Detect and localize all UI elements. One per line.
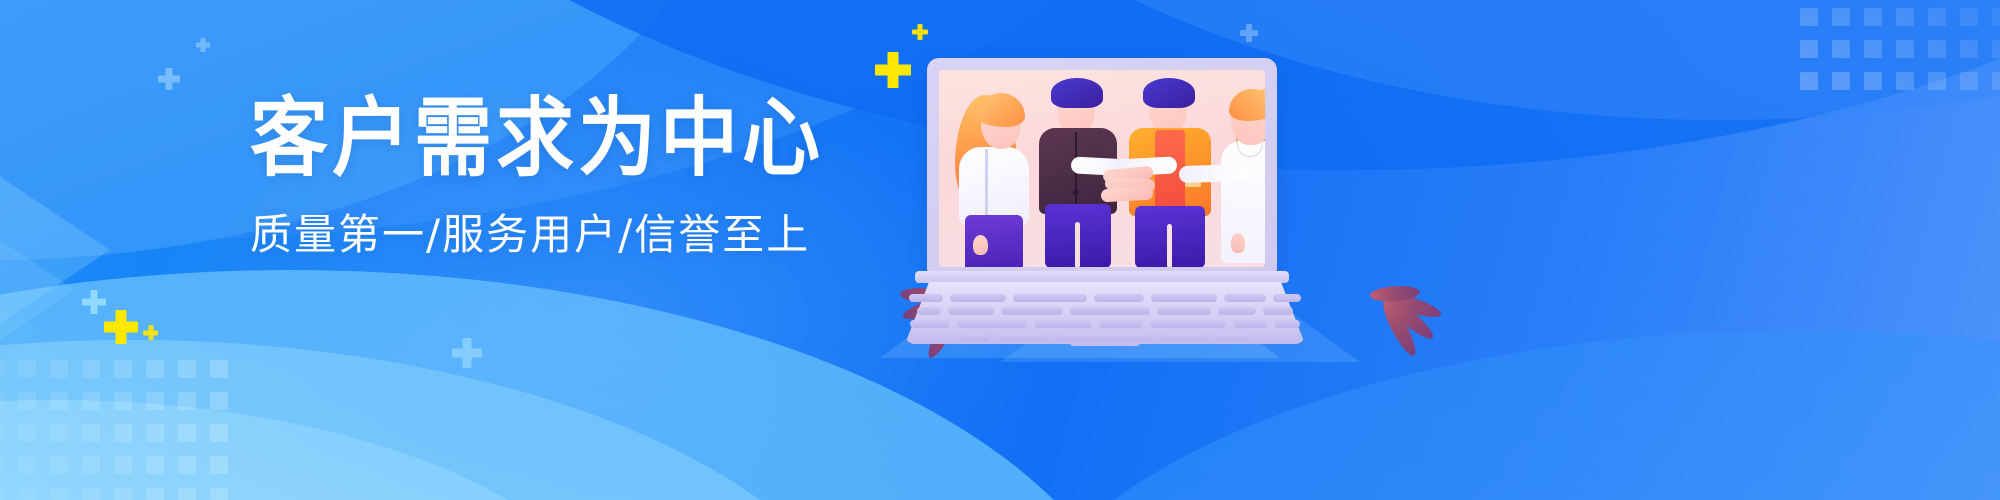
keyboard-key: [909, 294, 943, 302]
keyboard-key: [960, 333, 990, 341]
torso: [959, 147, 1029, 225]
keyboard-key: [917, 307, 941, 315]
keyboard-key: [1001, 307, 1063, 315]
keyboard-row: [910, 320, 1300, 328]
hair-front: [977, 93, 1025, 127]
promo-banner: 客户需求为中心 质量第一/服务用户/信誉至上: [0, 0, 2000, 500]
plus-sparkle-cyan-icon-4: [452, 338, 482, 368]
keyboard-key: [910, 320, 950, 328]
keyboard-key: [1214, 333, 1250, 341]
keyboard-row: [909, 294, 1301, 302]
keyboard-key: [1218, 307, 1256, 315]
keyboard-key: [1094, 294, 1144, 302]
keyboard-key: [1157, 307, 1211, 315]
keyboard-key: [1224, 294, 1266, 302]
plus-sparkle-yellow-icon-2: [912, 24, 928, 40]
hand: [973, 235, 988, 255]
keyboard-key: [950, 294, 1006, 302]
keyboard-key: [1159, 333, 1207, 341]
plus-sparkle-yellow-icon-4: [143, 325, 158, 340]
plus-sparkle-cyan-icon-3: [82, 290, 106, 314]
keyboard-key: [957, 320, 1027, 328]
plus-sparkle-cyan-icon-5: [1240, 24, 1258, 42]
dot-grid-top-right: [1800, 0, 2000, 90]
laptop-trackpad: [1070, 340, 1140, 346]
laptop-teamwork-illustration: [905, 58, 1305, 348]
laptop-hinge: [915, 271, 1289, 283]
hair: [1143, 78, 1195, 108]
keyboard-key: [1233, 320, 1267, 328]
chevron-stripe-1: [0, 150, 110, 350]
laptop-keyboard: [905, 294, 1305, 344]
shirt-button: [1073, 190, 1078, 195]
plus-sparkle-yellow-icon-3: [104, 310, 138, 344]
keyboard-key: [1013, 294, 1087, 302]
person-4-woman-blouse: [1209, 81, 1265, 267]
keyboard-key: [1099, 320, 1143, 328]
keyboard-key: [1151, 294, 1217, 302]
hand-layer: [1101, 187, 1154, 203]
leg-gap: [1167, 224, 1172, 267]
arm: [1179, 164, 1248, 183]
keyboard-key: [1150, 320, 1226, 328]
keyboard-key: [1070, 307, 1150, 315]
cardigan-lapel: [985, 149, 988, 221]
keyboard-key: [1274, 320, 1300, 328]
people-group: [939, 70, 1265, 267]
leg-gap: [1075, 222, 1080, 267]
keyboard-key: [1034, 320, 1092, 328]
keyboard-key: [1263, 307, 1293, 315]
keyboard-key: [1273, 294, 1301, 302]
stacked-hands: [1099, 168, 1161, 208]
keyboard-row: [917, 307, 1293, 315]
keyboard-key: [948, 307, 994, 315]
dot-grid-bottom-left: [0, 360, 228, 500]
banner-headline: 客户需求为中心: [250, 96, 870, 182]
banner-subtitle: 质量第一/服务用户/信誉至上: [250, 214, 870, 256]
laptop-lid: [927, 58, 1277, 273]
banner-copy: 客户需求为中心 质量第一/服务用户/信誉至上: [250, 96, 870, 256]
keyboard-key: [997, 333, 1049, 341]
hair-front: [1229, 89, 1265, 121]
hand: [1231, 233, 1245, 253]
laptop-screen: [939, 70, 1265, 267]
person-1-woman-cardigan: [951, 85, 1043, 267]
plus-sparkle-cyan-icon-1: [158, 68, 180, 90]
hair: [1051, 78, 1103, 108]
plus-sparkle-cyan-icon-2: [196, 38, 210, 52]
